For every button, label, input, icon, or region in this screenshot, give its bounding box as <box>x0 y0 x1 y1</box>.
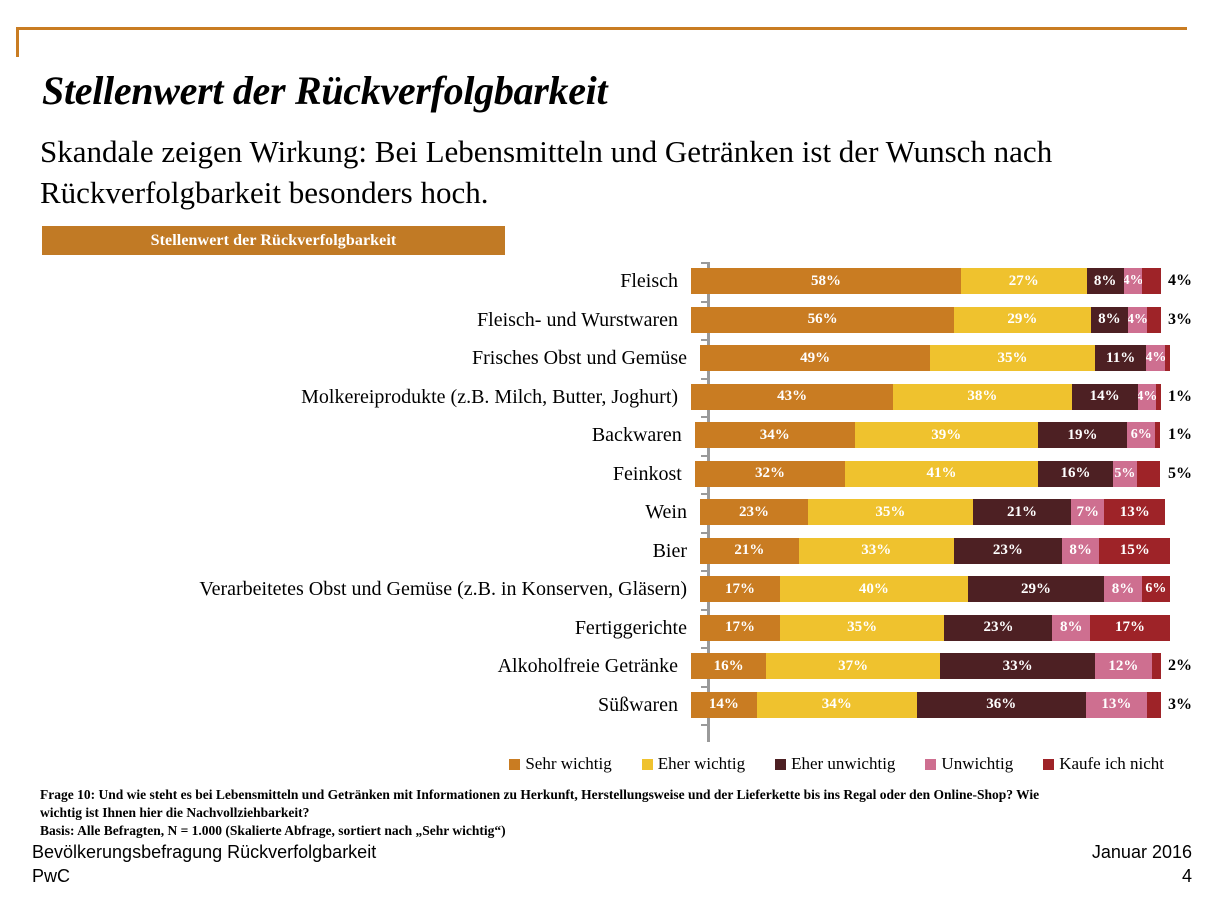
category-label: Fleisch <box>42 270 688 292</box>
chart-row: Molkereiprodukte (z.B. Milch, Butter, Jo… <box>42 378 1192 417</box>
bar-segment <box>1155 422 1160 448</box>
stacked-bar-chart: Fleisch58%27%8%4%4%Fleisch- und Wurstwar… <box>42 262 1192 742</box>
chart-row: Süßwaren14%34%36%13%3% <box>42 686 1192 725</box>
bar-segment: 27% <box>961 268 1087 294</box>
bar-segment: 58% <box>691 268 961 294</box>
stacked-bar: 21%33%23%8%15% <box>700 538 1170 564</box>
chart-row: Backwaren34%39%19%6%1% <box>42 416 1192 455</box>
axis-tick <box>701 570 708 572</box>
footer-document-title: Bevölkerungsbefragung Rückverfolgbarkeit <box>32 840 376 864</box>
footnote-line-3: Basis: Alle Befragten, N = 1.000 (Skalie… <box>40 822 1195 840</box>
stacked-bar: 56%29%8%4% <box>691 307 1161 333</box>
stacked-bar: 49%35%11%4% <box>700 345 1170 371</box>
bar-segment: 33% <box>940 653 1095 679</box>
bar-segment: 34% <box>757 692 917 718</box>
bar-outside-label: 2% <box>1168 653 1192 679</box>
axis-tick <box>701 493 708 495</box>
legend-swatch-icon <box>1043 759 1054 770</box>
bar-segment <box>1147 307 1161 333</box>
page-subtitle: Skandale zeigen Wirkung: Bei Lebensmitte… <box>40 131 1150 213</box>
category-label: Süßwaren <box>42 694 688 716</box>
legend-label: Eher wichtig <box>658 754 745 774</box>
slide-top-rule <box>16 27 1187 30</box>
bar-segment: 43% <box>691 384 893 410</box>
bar-segment <box>1156 384 1161 410</box>
bar-segment: 21% <box>700 538 799 564</box>
footer-date: Januar 2016 <box>1092 840 1192 864</box>
chart-row: Frisches Obst und Gemüse49%35%11%4% <box>42 339 1192 378</box>
axis-tick <box>701 301 708 303</box>
bar-segment: 37% <box>766 653 940 679</box>
chart-row: Alkoholfreie Getränke16%37%33%12%2% <box>42 647 1192 686</box>
stacked-bar: 34%39%19%6% <box>695 422 1161 448</box>
bar-segment <box>1147 692 1161 718</box>
legend-swatch-icon <box>509 759 520 770</box>
bar-segment <box>1152 653 1161 679</box>
axis-tick <box>701 378 708 380</box>
chart-row: Fleisch58%27%8%4%4% <box>42 262 1192 301</box>
bar-segment: 15% <box>1099 538 1170 564</box>
axis-tick <box>701 532 708 534</box>
legend-item[interactable]: Eher wichtig <box>642 754 745 774</box>
page-title: Stellenwert der Rückverfolgbarkeit <box>42 70 1182 112</box>
bar-segment: 16% <box>1038 461 1113 487</box>
bar-segment: 11% <box>1095 345 1147 371</box>
category-label: Fertiggerichte <box>42 617 697 639</box>
bar-segment: 32% <box>695 461 845 487</box>
chart-row: Fertiggerichte17%35%23%8%17% <box>42 609 1192 648</box>
legend-item[interactable]: Sehr wichtig <box>509 754 611 774</box>
stacked-bar: 23%35%21%7%13% <box>700 499 1170 525</box>
axis-tick <box>701 455 708 457</box>
bar-segment: 8% <box>1087 268 1124 294</box>
category-label: Molkereiprodukte (z.B. Milch, Butter, Jo… <box>42 386 688 408</box>
bar-segment: 35% <box>780 615 945 641</box>
bar-segment: 17% <box>700 576 780 602</box>
legend-swatch-icon <box>925 759 936 770</box>
stacked-bar: 17%35%23%8%17% <box>700 615 1170 641</box>
bar-outside-label: 1% <box>1168 384 1192 410</box>
chart-legend: Sehr wichtigEher wichtigEher unwichtigUn… <box>42 752 1192 776</box>
bar-outside-label: 4% <box>1168 268 1192 294</box>
bar-segment: 8% <box>1104 576 1142 602</box>
category-label: Frisches Obst und Gemüse <box>42 347 697 369</box>
category-label: Wein <box>42 501 697 523</box>
legend-item[interactable]: Kaufe ich nicht <box>1043 754 1164 774</box>
bar-segment <box>1137 461 1161 487</box>
stacked-bar: 43%38%14%4% <box>691 384 1161 410</box>
chart-row: Feinkost32%41%16%5%5% <box>42 455 1192 494</box>
bar-segment: 8% <box>1062 538 1100 564</box>
bar-segment: 38% <box>893 384 1072 410</box>
legend-label: Eher unwichtig <box>791 754 895 774</box>
bar-segment: 49% <box>700 345 930 371</box>
category-label: Verarbeitetes Obst und Gemüse (z.B. in K… <box>42 578 697 600</box>
bar-segment: 39% <box>855 422 1038 448</box>
bar-segment: 13% <box>1104 499 1165 525</box>
bar-segment: 19% <box>1038 422 1127 448</box>
footnote-line-2: wichtig ist Ihnen hier die Nachvollziehb… <box>40 804 1195 822</box>
chart-row: Bier21%33%23%8%15% <box>42 532 1192 571</box>
bar-segment: 17% <box>1090 615 1170 641</box>
chart-banner: Stellenwert der Rückverfolgbarkeit <box>42 226 505 255</box>
bar-segment: 29% <box>968 576 1104 602</box>
chart-banner-label: Stellenwert der Rückverfolgbarkeit <box>42 226 505 255</box>
axis-tick <box>701 262 708 264</box>
bar-segment: 4% <box>1124 268 1143 294</box>
chart-row: Wein23%35%21%7%13% <box>42 493 1192 532</box>
bar-segment: 56% <box>691 307 954 333</box>
bar-segment: 4% <box>1138 384 1157 410</box>
axis-tick <box>701 416 708 418</box>
stacked-bar: 14%34%36%13% <box>691 692 1161 718</box>
bar-segment: 6% <box>1142 576 1170 602</box>
bar-segment: 40% <box>780 576 968 602</box>
footer-page-number: 4 <box>1182 864 1192 888</box>
bar-outside-label: 3% <box>1168 692 1192 718</box>
bar-segment: 23% <box>954 538 1062 564</box>
stacked-bar: 58%27%8%4% <box>691 268 1161 294</box>
bar-segment <box>1142 268 1161 294</box>
stacked-bar: 16%37%33%12% <box>691 653 1161 679</box>
bar-segment: 12% <box>1095 653 1151 679</box>
stacked-bar: 32%41%16%5% <box>695 461 1161 487</box>
bar-segment: 13% <box>1086 692 1147 718</box>
stacked-bar: 17%40%29%8%6% <box>700 576 1170 602</box>
bar-segment: 41% <box>845 461 1038 487</box>
bar-segment: 4% <box>1128 307 1147 333</box>
bar-segment: 34% <box>695 422 855 448</box>
slide-top-rule-left-tick <box>16 27 19 57</box>
category-label: Feinkost <box>42 463 692 485</box>
bar-segment: 14% <box>1072 384 1138 410</box>
legend-item[interactable]: Unwichtig <box>925 754 1013 774</box>
bar-outside-label: 1% <box>1168 422 1192 448</box>
bar-outside-label: 5% <box>1168 461 1192 487</box>
bar-segment: 35% <box>930 345 1095 371</box>
bar-segment: 23% <box>700 499 808 525</box>
bar-segment: 35% <box>808 499 973 525</box>
slide-footer: Bevölkerungsbefragung Rückverfolgbarkeit… <box>32 840 1192 889</box>
bar-segment: 8% <box>1091 307 1129 333</box>
category-label: Fleisch- und Wurstwaren <box>42 309 688 331</box>
legend-label: Sehr wichtig <box>525 754 611 774</box>
category-label: Bier <box>42 540 697 562</box>
axis-tick <box>701 339 708 341</box>
bar-outside-label: 3% <box>1168 307 1192 333</box>
chart-footnote: Frage 10: Und wie steht es bei Lebensmit… <box>40 786 1195 839</box>
footer-row-bottom: PwC 4 <box>32 864 1192 888</box>
bar-segment: 14% <box>691 692 757 718</box>
bar-segment: 6% <box>1127 422 1155 448</box>
legend-item[interactable]: Eher unwichtig <box>775 754 895 774</box>
bar-segment: 36% <box>917 692 1086 718</box>
chart-row: Verarbeitetes Obst und Gemüse (z.B. in K… <box>42 570 1192 609</box>
axis-tick <box>701 686 708 688</box>
bar-segment: 17% <box>700 615 780 641</box>
footer-row-top: Bevölkerungsbefragung Rückverfolgbarkeit… <box>32 840 1192 864</box>
bar-segment: 33% <box>799 538 954 564</box>
axis-tick <box>701 609 708 611</box>
axis-tick <box>701 647 708 649</box>
footnote-line-1: Frage 10: Und wie steht es bei Lebensmit… <box>40 786 1195 804</box>
bar-segment: 16% <box>691 653 766 679</box>
bar-segment: 29% <box>954 307 1090 333</box>
chart-row: Fleisch- und Wurstwaren56%29%8%4%3% <box>42 301 1192 340</box>
bar-segment: 23% <box>944 615 1052 641</box>
axis-tick <box>701 724 708 726</box>
legend-label: Kaufe ich nicht <box>1059 754 1164 774</box>
bar-segment: 7% <box>1071 499 1104 525</box>
category-label: Backwaren <box>42 424 692 446</box>
bar-segment: 5% <box>1113 461 1137 487</box>
legend-label: Unwichtig <box>941 754 1013 774</box>
chart-rows: Fleisch58%27%8%4%4%Fleisch- und Wurstwar… <box>42 262 1192 724</box>
bar-segment: 4% <box>1146 345 1165 371</box>
bar-segment: 21% <box>973 499 1072 525</box>
legend-swatch-icon <box>775 759 786 770</box>
footer-company: PwC <box>32 864 70 888</box>
bar-segment: 8% <box>1052 615 1090 641</box>
bar-segment <box>1165 345 1170 371</box>
category-label: Alkoholfreie Getränke <box>42 655 688 677</box>
legend-swatch-icon <box>642 759 653 770</box>
